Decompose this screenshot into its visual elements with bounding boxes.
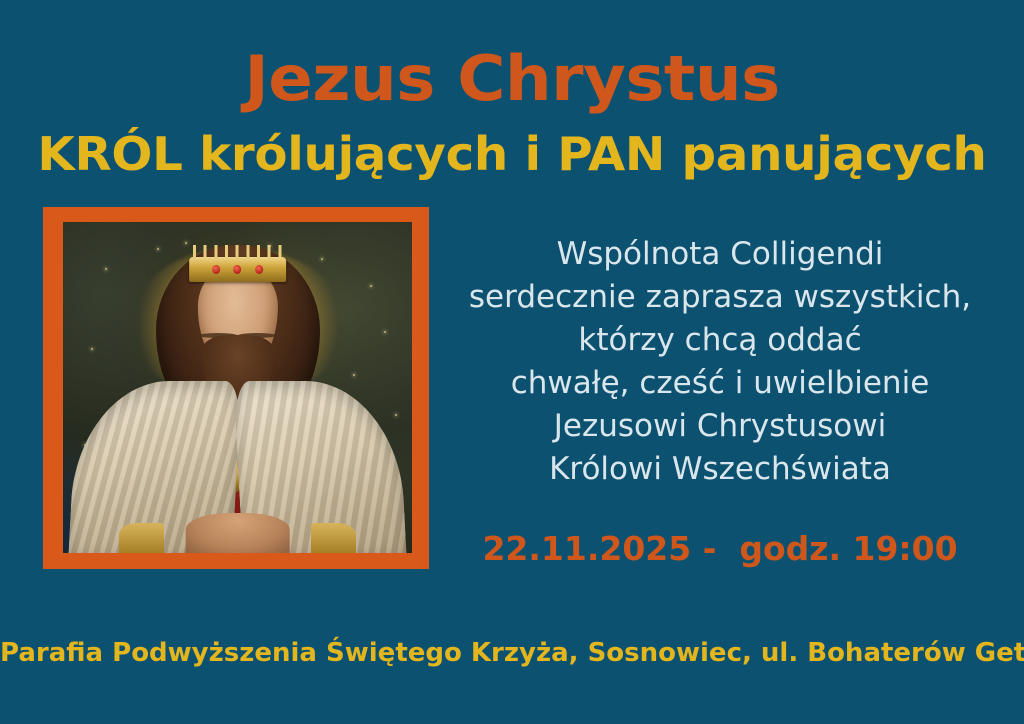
invitation-line: serdecznie zaprasza wszystkich,: [455, 276, 985, 319]
parish-address-footer: Parafia Podwyższenia Świętego Krzyża, So…: [0, 638, 1024, 668]
sleeve-cuff-left: [119, 523, 164, 553]
invitation-line: Królowi Wszechświata: [455, 448, 985, 491]
artwork-frame: [43, 207, 429, 569]
invitation-line: Wspólnota Colligendi: [455, 233, 985, 276]
crown-icon: [189, 257, 287, 282]
jesus-christ-king-image: [63, 222, 412, 553]
page-title: Jezus Chrystus: [0, 48, 1024, 110]
page-subtitle: KRÓL królujących i PAN panujących: [0, 129, 1024, 179]
event-datetime: 22.11.2025 - godz. 19:00: [455, 529, 985, 569]
crown-gem-left: [212, 265, 220, 274]
poster-canvas: Jezus Chrystus KRÓL królujących i PAN pa…: [0, 0, 1024, 724]
hands-shape: [185, 513, 290, 553]
invitation-text-block: Wspólnota Colligendi serdecznie zaprasza…: [455, 233, 985, 491]
sleeve-cuff-right: [311, 523, 356, 553]
invitation-line: Jezusowi Chrystusowi: [455, 405, 985, 448]
invitation-line: chwałę, cześć i uwielbienie: [455, 362, 985, 405]
crown-gem-right: [255, 265, 263, 274]
crown-gem-center: [234, 265, 242, 274]
invitation-line: którzy chcą oddać: [455, 319, 985, 362]
